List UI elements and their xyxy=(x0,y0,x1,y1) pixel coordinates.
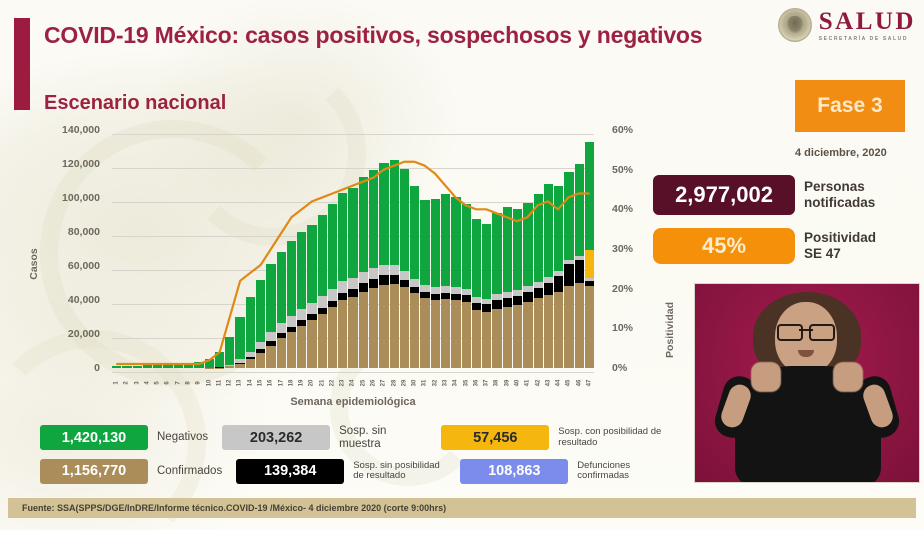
bar xyxy=(338,193,347,368)
bar-segment xyxy=(287,241,296,316)
bar-segment xyxy=(544,295,553,368)
bar-segment xyxy=(133,366,142,368)
bar-segment xyxy=(431,199,440,287)
bar-segment xyxy=(122,366,131,368)
bar xyxy=(174,364,183,368)
bar-segment xyxy=(359,177,368,272)
salud-logo: SALUD SECRETARÍA DE SALUD xyxy=(778,8,916,42)
legend-chip: 1,420,130 xyxy=(40,425,148,450)
bar-segment xyxy=(523,302,532,368)
legend-item-defunciones: 108,863 Defunciones confirmadas xyxy=(460,459,666,484)
bar-segment xyxy=(277,252,286,323)
bar-segment xyxy=(472,310,481,368)
bar-segment xyxy=(441,299,450,368)
legend-chip: 1,156,770 xyxy=(40,459,148,484)
legend-item-confirmados: 1,156,770 Confirmados xyxy=(40,459,222,484)
bar-segment xyxy=(143,365,152,368)
bar-segment xyxy=(544,283,553,295)
bar-segment xyxy=(277,323,286,333)
bar-segment xyxy=(225,337,234,364)
y-tick-label-right: 0% xyxy=(612,362,627,374)
bar-segment xyxy=(472,303,481,310)
bar-segment xyxy=(564,172,573,260)
bar-segment xyxy=(400,280,409,287)
plot-area xyxy=(112,130,594,368)
y-tick-label: 100,000 xyxy=(62,192,100,204)
bar-segment xyxy=(235,364,244,368)
bar-segment xyxy=(451,197,460,287)
bar xyxy=(348,188,357,368)
bar xyxy=(246,297,255,368)
x-axis-label: Semana epidemiológica xyxy=(112,396,594,408)
bar-segment xyxy=(575,283,584,368)
bar xyxy=(390,160,399,368)
bar-segment xyxy=(153,365,162,368)
bar-segment xyxy=(338,193,347,281)
kpi-label: Personas notificadas xyxy=(804,179,875,210)
y-axis-left: 020,00040,00060,00080,000100,000120,0001… xyxy=(36,126,106,368)
bar xyxy=(554,186,563,368)
legend-label: Confirmados xyxy=(157,465,222,478)
bar-segment xyxy=(359,272,368,283)
report-date: 4 diciembre, 2020 xyxy=(795,147,915,159)
page-title: COVID-19 México: casos positivos, sospec… xyxy=(44,22,702,49)
bar xyxy=(205,359,214,368)
legend-item-sosp-sin-muestra: 203,262 Sosp. sin muestra xyxy=(222,425,427,451)
legend-label: Defunciones confirmadas xyxy=(577,461,666,482)
bar-segment xyxy=(492,300,501,308)
bar xyxy=(153,365,162,368)
bar-segment xyxy=(277,338,286,368)
bar xyxy=(163,365,172,368)
bar-segment xyxy=(503,298,512,307)
bar-segment xyxy=(328,307,337,368)
x-axis-ticks: 1234567891011121314151617181920212223242… xyxy=(112,372,594,394)
legend-label: Sosp. sin posibilidad de resultado xyxy=(353,461,446,482)
bar-segment xyxy=(585,286,594,368)
bar-segment xyxy=(472,219,481,297)
y-tick-label: 0 xyxy=(94,362,100,374)
bar-segment xyxy=(359,283,368,291)
kpi-label-line1: Personas xyxy=(804,179,875,195)
bar-segment xyxy=(482,304,491,312)
source-footer: Fuente: SSA(SPPS/DGE/InDRE/Informe técni… xyxy=(8,498,916,518)
bar-segment xyxy=(318,215,327,297)
legend-label: Sosp. sin muestra xyxy=(339,425,427,451)
bar xyxy=(544,184,553,368)
covid-stacked-bar-chart: Casos Positividad 020,00040,00060,00080,… xyxy=(36,126,656,416)
bar-segment xyxy=(369,170,378,269)
bar-segment xyxy=(420,285,429,292)
bar-segment xyxy=(379,265,388,276)
y-tick-label-right: 40% xyxy=(612,203,633,215)
bar-segment xyxy=(328,204,337,289)
bar-segment xyxy=(410,186,419,280)
legend-row-1: 1,420,130 Negativos 203,262 Sosp. sin mu… xyxy=(40,425,680,451)
y-tick-label-right: 20% xyxy=(612,283,633,295)
bar-segment xyxy=(297,232,306,309)
y-tick-label: 140,000 xyxy=(62,124,100,136)
source-text: Fuente: SSA(SPPS/DGE/InDRE/Informe técni… xyxy=(8,503,446,513)
legend-chip: 203,262 xyxy=(222,425,330,450)
bar-segment xyxy=(390,160,399,265)
bar xyxy=(564,172,573,368)
bar xyxy=(431,199,440,368)
logo-wordmark: SALUD xyxy=(819,9,916,34)
bar-segment xyxy=(379,285,388,368)
bar-segment xyxy=(174,364,183,368)
legend-chip: 57,456 xyxy=(441,425,549,450)
bar-segment xyxy=(400,271,409,280)
bar xyxy=(575,164,584,368)
bar-segment xyxy=(225,366,234,368)
bar-segment xyxy=(420,200,429,285)
y-tick-label-right: 10% xyxy=(612,322,633,334)
bar xyxy=(503,207,512,368)
phase-label: Fase 3 xyxy=(817,94,882,118)
bar-segment xyxy=(492,213,501,295)
bar-segment xyxy=(400,287,409,368)
bar xyxy=(441,194,450,368)
bar-segment xyxy=(215,368,224,369)
bar xyxy=(410,186,419,368)
bar-segment xyxy=(369,288,378,368)
bar-segment xyxy=(575,260,584,283)
bar-segment xyxy=(575,164,584,256)
bar-segment xyxy=(544,184,553,278)
interpreter-hand-left xyxy=(751,362,781,392)
x-tick-label: 47 xyxy=(579,378,601,387)
bar-segment xyxy=(297,326,306,369)
bar xyxy=(492,213,501,368)
bar-segment xyxy=(266,332,275,341)
bar xyxy=(235,317,244,368)
bar-segment xyxy=(513,209,522,291)
bar xyxy=(534,194,543,368)
bar xyxy=(369,170,378,368)
y-tick-label: 80,000 xyxy=(68,226,100,238)
mexico-eagle-icon xyxy=(778,8,812,42)
bar-segment xyxy=(554,292,563,369)
bar-segment xyxy=(379,163,388,265)
bar xyxy=(112,366,121,368)
bar xyxy=(359,177,368,368)
bar-segment xyxy=(503,207,512,292)
bar xyxy=(266,264,275,368)
bar-segment xyxy=(246,359,255,368)
y-tick-label-right: 50% xyxy=(612,164,633,176)
bar-segment xyxy=(328,289,337,301)
bar-segment xyxy=(462,302,471,368)
glasses-icon xyxy=(777,324,835,337)
bar-segment xyxy=(410,293,419,368)
bar xyxy=(513,209,522,368)
bar-segment xyxy=(400,169,409,271)
y-tick-label: 20,000 xyxy=(68,328,100,340)
bar-segment xyxy=(390,284,399,368)
bar-segment xyxy=(369,279,378,288)
bar-segment xyxy=(184,363,193,368)
legend-chip: 139,384 xyxy=(236,459,344,484)
bar xyxy=(143,365,152,368)
bar-segment xyxy=(338,293,347,300)
bar-group xyxy=(112,130,594,368)
bar-segment xyxy=(297,309,306,320)
bar-segment xyxy=(585,250,594,277)
bar-segment xyxy=(492,309,501,369)
bar-segment xyxy=(585,142,594,251)
y-axis-right-label: Positividad xyxy=(664,302,676,358)
bar-segment xyxy=(534,194,543,282)
interpreter-video[interactable] xyxy=(694,283,920,483)
legend-label: Sosp. con posibilidad de resultado xyxy=(558,427,666,448)
bar-segment xyxy=(215,352,224,367)
kpi-label-line2: SE 47 xyxy=(804,246,876,262)
bar xyxy=(482,224,491,368)
kpi-positividad: 45% Positividad SE 47 xyxy=(653,228,876,264)
bar-segment xyxy=(256,342,265,350)
bar-segment xyxy=(266,264,275,332)
bar xyxy=(420,200,429,368)
bar-segment xyxy=(318,314,327,368)
bar-segment xyxy=(564,286,573,368)
bar-segment xyxy=(246,297,255,351)
bar-segment xyxy=(338,281,347,293)
bar-segment xyxy=(235,317,244,360)
bar-segment xyxy=(410,279,419,287)
bar-segment xyxy=(390,275,399,284)
bar-segment xyxy=(205,359,214,368)
kpi-personas-notificadas: 2,977,002 Personas notificadas xyxy=(653,175,875,215)
bar-segment xyxy=(307,303,316,314)
phase-badge: Fase 3 xyxy=(795,80,905,132)
bar-segment xyxy=(431,300,440,368)
bar-segment xyxy=(451,300,460,368)
bar xyxy=(297,232,306,368)
logo-subtitle: SECRETARÍA DE SALUD xyxy=(819,37,916,42)
bar-segment xyxy=(564,264,573,286)
bar-segment xyxy=(348,278,357,290)
bar-segment xyxy=(513,305,522,368)
bar-segment xyxy=(348,188,357,278)
bar-segment xyxy=(318,296,327,307)
legend-label: Negativos xyxy=(157,431,208,444)
y-tick-label: 60,000 xyxy=(68,260,100,272)
bar xyxy=(585,142,594,368)
interpreter-hand-right xyxy=(833,362,863,392)
bar-segment xyxy=(266,346,275,368)
kpi-label-line1: Positividad xyxy=(804,230,876,246)
legend-row-2: 1,156,770 Confirmados 139,384 Sosp. sin … xyxy=(40,459,680,484)
bar-segment xyxy=(441,194,450,286)
bar-segment xyxy=(534,298,543,368)
bar xyxy=(328,204,337,368)
bar-segment xyxy=(420,298,429,368)
legend-item-sosp-con-posibilidad: 57,456 Sosp. con posibilidad de resultad… xyxy=(441,425,666,450)
bar xyxy=(318,215,327,368)
bar xyxy=(194,362,203,368)
y-tick-label: 40,000 xyxy=(68,294,100,306)
bar-segment xyxy=(523,292,532,301)
bar-segment xyxy=(390,265,399,275)
kpi-label-line2: notificadas xyxy=(804,195,875,211)
bar xyxy=(462,204,471,368)
section-subtitle: Escenario nacional xyxy=(44,92,226,115)
legend-chip: 108,863 xyxy=(460,459,568,484)
bar-segment xyxy=(287,332,296,368)
bar-segment xyxy=(256,280,265,341)
bar-segment xyxy=(482,312,491,368)
bar-segment xyxy=(534,288,543,298)
kpi-value: 2,977,002 xyxy=(653,175,795,215)
bar xyxy=(472,219,481,368)
bar xyxy=(184,363,193,368)
bar-segment xyxy=(307,320,316,368)
bar xyxy=(256,280,265,368)
bar xyxy=(400,169,409,368)
bar-segment xyxy=(112,366,121,368)
legend-item-negativos: 1,420,130 Negativos xyxy=(40,425,208,450)
bar-segment xyxy=(431,287,440,294)
bar xyxy=(451,197,460,368)
chart-legend: 1,420,130 Negativos 203,262 Sosp. sin mu… xyxy=(40,425,680,492)
bar-segment xyxy=(369,268,378,279)
bar-segment xyxy=(554,186,563,271)
y-axis-right: 0%10%20%30%40%50%60% xyxy=(606,126,656,368)
bar-segment xyxy=(348,289,357,296)
legend-item-sosp-sin-posibilidad: 139,384 Sosp. sin posibilidad de resulta… xyxy=(236,459,446,484)
bar-segment xyxy=(359,292,368,369)
bar-segment xyxy=(379,275,388,285)
bar xyxy=(307,225,316,368)
bar-segment xyxy=(513,296,522,305)
bar xyxy=(379,163,388,368)
bar-segment xyxy=(338,300,347,368)
bar xyxy=(523,203,532,368)
bar-segment xyxy=(287,316,296,327)
kpi-label: Positividad SE 47 xyxy=(804,230,876,261)
bar-segment xyxy=(194,362,203,368)
bar xyxy=(122,366,131,368)
bar-segment xyxy=(554,276,563,291)
bar xyxy=(287,241,296,368)
bar xyxy=(225,337,234,368)
bar-segment xyxy=(348,297,357,368)
bar-segment xyxy=(163,365,172,368)
bar xyxy=(215,352,224,368)
bar-segment xyxy=(307,225,316,303)
y-tick-label: 120,000 xyxy=(62,158,100,170)
bar-segment xyxy=(256,353,265,368)
bar xyxy=(277,252,286,368)
kpi-value: 45% xyxy=(653,228,795,264)
bar xyxy=(133,366,142,368)
bar-segment xyxy=(441,286,450,293)
bar-segment xyxy=(482,224,491,299)
y-tick-label-right: 60% xyxy=(612,124,633,136)
bar-segment xyxy=(523,203,532,286)
y-tick-label-right: 30% xyxy=(612,243,633,255)
title-accent-bar xyxy=(14,18,30,110)
bar-segment xyxy=(503,307,512,368)
bar-segment xyxy=(462,204,471,289)
